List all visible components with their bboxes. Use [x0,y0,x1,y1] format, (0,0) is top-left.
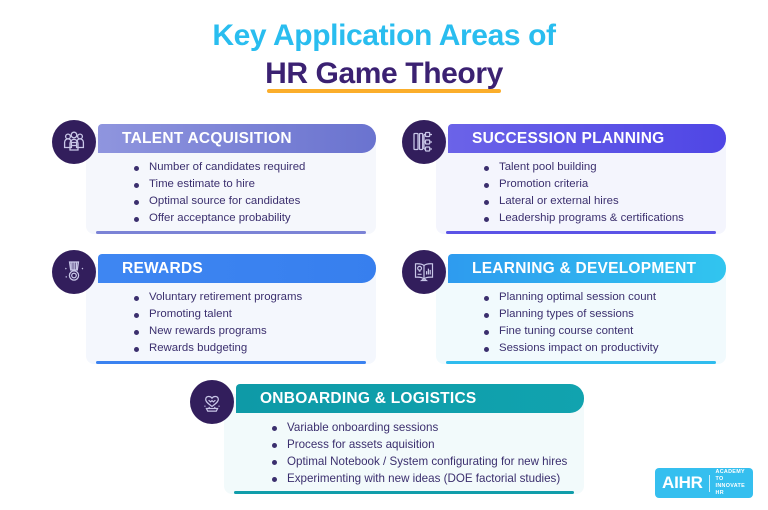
card-rewards[interactable]: REWARDS Voluntary retirement programs Pr… [52,254,376,364]
title-line-2-wrapper: HR Game Theory [265,56,503,91]
logo-divider [709,475,710,492]
card-bullet-list: Planning optimal session count Planning … [484,290,716,358]
card-title: REWARDS [98,260,203,278]
card-title: SUCCESSION PLANNING [448,130,665,148]
card-accent-bar [446,361,716,364]
card-talent-acquisition[interactable]: TALENT ACQUISITION Number of candidates … [52,124,376,234]
list-item: Number of candidates required [134,160,366,176]
card-header: REWARDS [98,254,376,283]
card-bullet-list: Voluntary retirement programs Promoting … [134,290,366,358]
list-item: Variable onboarding sessions [272,420,574,436]
list-item: Lateral or external hires [484,194,716,210]
open-book-icon [402,250,446,294]
list-item: Talent pool building [484,160,716,176]
card-bullet-list: Number of candidates required Time estim… [134,160,366,228]
list-item: Promotion criteria [484,177,716,193]
list-item: New rewards programs [134,324,366,340]
list-item: Experimenting with new ideas (DOE factor… [272,471,574,487]
list-item: Voluntary retirement programs [134,290,366,306]
list-item: Fine tuning course content [484,324,716,340]
card-header: LEARNING & DEVELOPMENT [448,254,726,283]
list-item: Optimal source for candidates [134,194,366,210]
logo-tagline-line-2: INNOVATE HR [716,483,745,496]
list-item: Offer acceptance probability [134,211,366,227]
logo-tagline: ACADEMY TO INNOVATE HR [716,469,746,497]
people-group-icon [52,120,96,164]
list-item: Promoting talent [134,307,366,323]
card-header: TALENT ACQUISITION [98,124,376,153]
list-item: Leadership programs & certifications [484,211,716,227]
card-succession-planning[interactable]: SUCCESSION PLANNING Talent pool building… [402,124,726,234]
card-bullet-list: Talent pool building Promotion criteria … [484,160,716,228]
card-accent-bar [96,361,366,364]
title-line-2: HR Game Theory [265,56,503,91]
logo-tagline-line-1: ACADEMY TO [716,469,745,482]
list-item: Rewards budgeting [134,341,366,357]
medal-icon [52,250,96,294]
list-item: Time estimate to hire [134,177,366,193]
card-header: SUCCESSION PLANNING [448,124,726,153]
card-learning-development[interactable]: LEARNING & DEVELOPMENT Planning optimal … [402,254,726,364]
list-item: Planning optimal session count [484,290,716,306]
card-title: TALENT ACQUISITION [98,130,292,148]
card-header: ONBOARDING & LOGISTICS [236,384,584,413]
list-item: Planning types of sessions [484,307,716,323]
list-item: Optimal Notebook / System configurating … [272,454,574,470]
list-item: Sessions impact on productivity [484,341,716,357]
card-onboarding-logistics[interactable]: ONBOARDING & LOGISTICS Variable onboardi… [190,384,584,494]
logo-wordmark: AIHR [662,473,703,493]
list-item: Process for assets aquisition [272,437,574,453]
card-bullet-list: Variable onboarding sessions Process for… [272,420,574,488]
aihr-logo[interactable]: AIHR ACADEMY TO INNOVATE HR [655,468,753,498]
org-chart-icon [402,120,446,164]
card-accent-bar [96,231,366,234]
card-accent-bar [446,231,716,234]
card-accent-bar [234,491,574,494]
card-title: LEARNING & DEVELOPMENT [448,260,696,278]
handshake-heart-icon [190,380,234,424]
card-title: ONBOARDING & LOGISTICS [236,390,476,408]
